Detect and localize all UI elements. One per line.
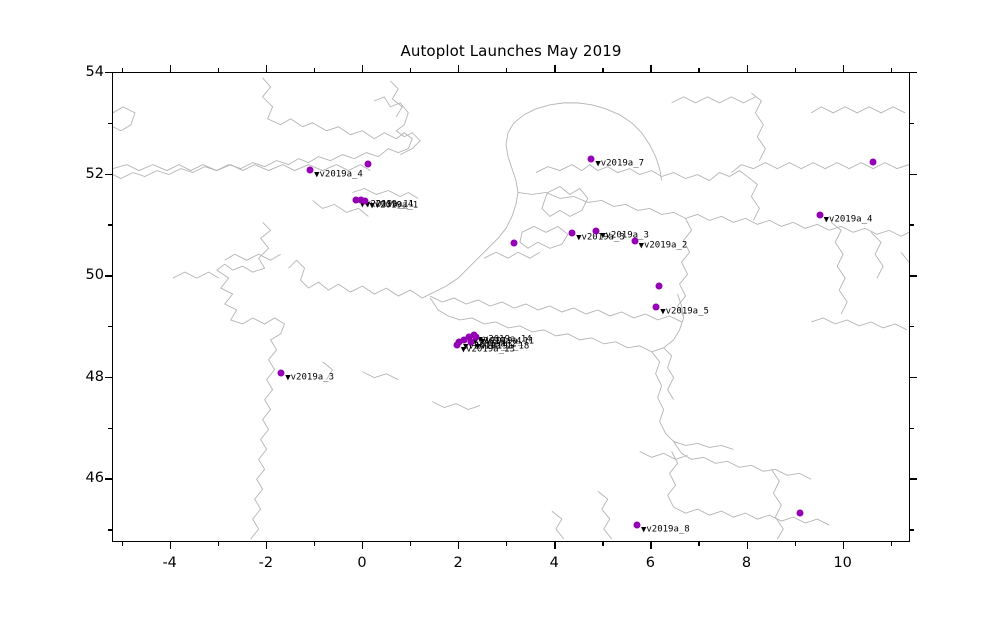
y-axis-tick-label: 46 xyxy=(60,470,104,486)
label-text: v2019a_3 xyxy=(291,372,334,382)
data-point-label: ▼v2019a_13 xyxy=(461,345,515,354)
x-axis-minor-tick xyxy=(506,68,507,72)
y-axis-minor-tick xyxy=(108,224,112,225)
x-axis-tick xyxy=(266,65,267,72)
y-axis-tick xyxy=(105,275,112,276)
data-point xyxy=(364,161,371,168)
x-axis-minor-tick xyxy=(891,542,892,546)
data-point-label: ▼v2019a_4 xyxy=(824,216,873,225)
data-point-label: ▼v2019a_2 xyxy=(639,241,688,250)
label-text: v2019a_7 xyxy=(601,159,644,169)
y-axis-tick-label: 48 xyxy=(60,369,104,385)
y-axis-tick xyxy=(910,377,917,378)
x-axis-tick xyxy=(650,542,651,549)
y-axis-tick xyxy=(105,478,112,479)
x-axis-tick xyxy=(266,542,267,549)
label-text: v2019a_1 xyxy=(375,201,418,211)
y-axis-minor-tick xyxy=(910,428,914,429)
x-axis-minor-tick xyxy=(314,542,315,546)
x-axis-minor-tick xyxy=(122,68,123,72)
x-axis-minor-tick xyxy=(506,542,507,546)
x-axis-minor-tick xyxy=(218,68,219,72)
data-point-label: ▼v2019a_3 xyxy=(285,373,334,382)
data-point xyxy=(797,509,804,516)
label-text: v2019a_8 xyxy=(646,525,689,535)
data-point xyxy=(633,522,640,529)
x-axis-tick-label: 0 xyxy=(357,555,366,571)
x-axis-minor-tick xyxy=(602,68,603,72)
x-axis-minor-tick xyxy=(410,542,411,546)
x-axis-tick xyxy=(170,542,171,549)
data-point xyxy=(453,341,460,348)
x-axis-tick-label: 6 xyxy=(646,555,655,571)
data-point xyxy=(655,283,662,290)
page-title: Autoplot Launches May 2019 xyxy=(112,42,910,60)
data-point-label: ▼v2019a_3 xyxy=(600,231,649,240)
x-axis-minor-tick xyxy=(122,542,123,546)
y-axis-tick xyxy=(105,72,112,73)
x-axis-tick xyxy=(650,65,651,72)
data-point-label: ▼v2019a_8 xyxy=(641,526,690,535)
y-axis-minor-tick xyxy=(910,123,914,124)
x-axis-tick-label: 10 xyxy=(833,555,851,571)
x-axis-minor-tick xyxy=(410,68,411,72)
y-axis-tick xyxy=(910,174,917,175)
label-text: v2019a_2 xyxy=(644,240,687,250)
x-axis-tick-label: 8 xyxy=(742,555,751,571)
data-point xyxy=(653,303,660,310)
data-point xyxy=(593,227,600,234)
x-axis-minor-tick xyxy=(795,68,796,72)
data-point xyxy=(816,212,823,219)
data-point xyxy=(631,237,638,244)
y-axis-tick xyxy=(105,377,112,378)
y-axis-minor-tick xyxy=(910,326,914,327)
y-axis-minor-tick xyxy=(108,529,112,530)
data-point xyxy=(569,230,576,237)
x-axis-tick xyxy=(458,542,459,549)
x-axis-tick xyxy=(554,542,555,549)
data-point xyxy=(511,240,518,247)
data-point-label: ▼v2019a_1 xyxy=(369,202,418,211)
y-axis-minor-tick xyxy=(108,123,112,124)
x-axis-tick xyxy=(554,65,555,72)
x-axis-tick-label: 4 xyxy=(550,555,559,571)
y-axis-tick xyxy=(910,72,917,73)
x-axis-minor-tick xyxy=(698,68,699,72)
y-axis-minor-tick xyxy=(108,326,112,327)
plot-area: ▼v2019a_4▼v2019a_11▼v2019a_4▼v2019a_1▼v2… xyxy=(112,72,910,542)
data-point-label: ▼v2019a_4 xyxy=(314,170,363,179)
label-text: v2019a_5 xyxy=(666,306,709,316)
y-axis-tick-label: 50 xyxy=(60,267,104,283)
x-axis-minor-tick xyxy=(602,542,603,546)
label-text: v2019a_4 xyxy=(829,215,872,225)
x-axis-tick xyxy=(843,542,844,549)
x-axis-tick xyxy=(362,65,363,72)
x-axis-tick xyxy=(843,65,844,72)
y-axis-tick xyxy=(105,174,112,175)
x-axis-minor-tick xyxy=(795,542,796,546)
label-text: v2019a_13 xyxy=(466,344,515,354)
data-point xyxy=(362,198,369,205)
x-axis-minor-tick xyxy=(698,542,699,546)
y-axis-tick-label: 54 xyxy=(60,64,104,80)
x-axis-minor-tick xyxy=(218,542,219,546)
x-axis-minor-tick xyxy=(314,68,315,72)
y-axis-minor-tick xyxy=(910,529,914,530)
x-axis-minor-tick xyxy=(891,68,892,72)
x-axis-tick xyxy=(458,65,459,72)
data-point-label: ▼v2019a_5 xyxy=(660,307,709,316)
y-axis-tick xyxy=(910,275,917,276)
data-point xyxy=(869,158,876,165)
x-axis-tick xyxy=(747,65,748,72)
data-point-label: ▼v2019a_7 xyxy=(595,160,644,169)
x-axis-tick-label: 2 xyxy=(453,555,462,571)
x-axis-tick-label: -2 xyxy=(259,555,273,571)
y-axis-minor-tick xyxy=(910,224,914,225)
x-axis-tick xyxy=(170,65,171,72)
figure-canvas: Autoplot Launches May 2019 xyxy=(0,0,1003,633)
label-text: v2019a_4 xyxy=(319,169,362,179)
y-axis-tick-label: 52 xyxy=(60,166,104,182)
x-axis-tick xyxy=(747,542,748,549)
data-point xyxy=(588,156,595,163)
data-point xyxy=(278,369,285,376)
data-point xyxy=(307,166,314,173)
y-axis-tick xyxy=(910,478,917,479)
y-axis-minor-tick xyxy=(108,428,112,429)
label-text: v2019a_3 xyxy=(606,230,649,240)
scatter-layer: ▼v2019a_4▼v2019a_11▼v2019a_4▼v2019a_1▼v2… xyxy=(113,73,909,541)
x-axis-tick xyxy=(362,542,363,549)
x-axis-tick-label: -4 xyxy=(162,555,176,571)
